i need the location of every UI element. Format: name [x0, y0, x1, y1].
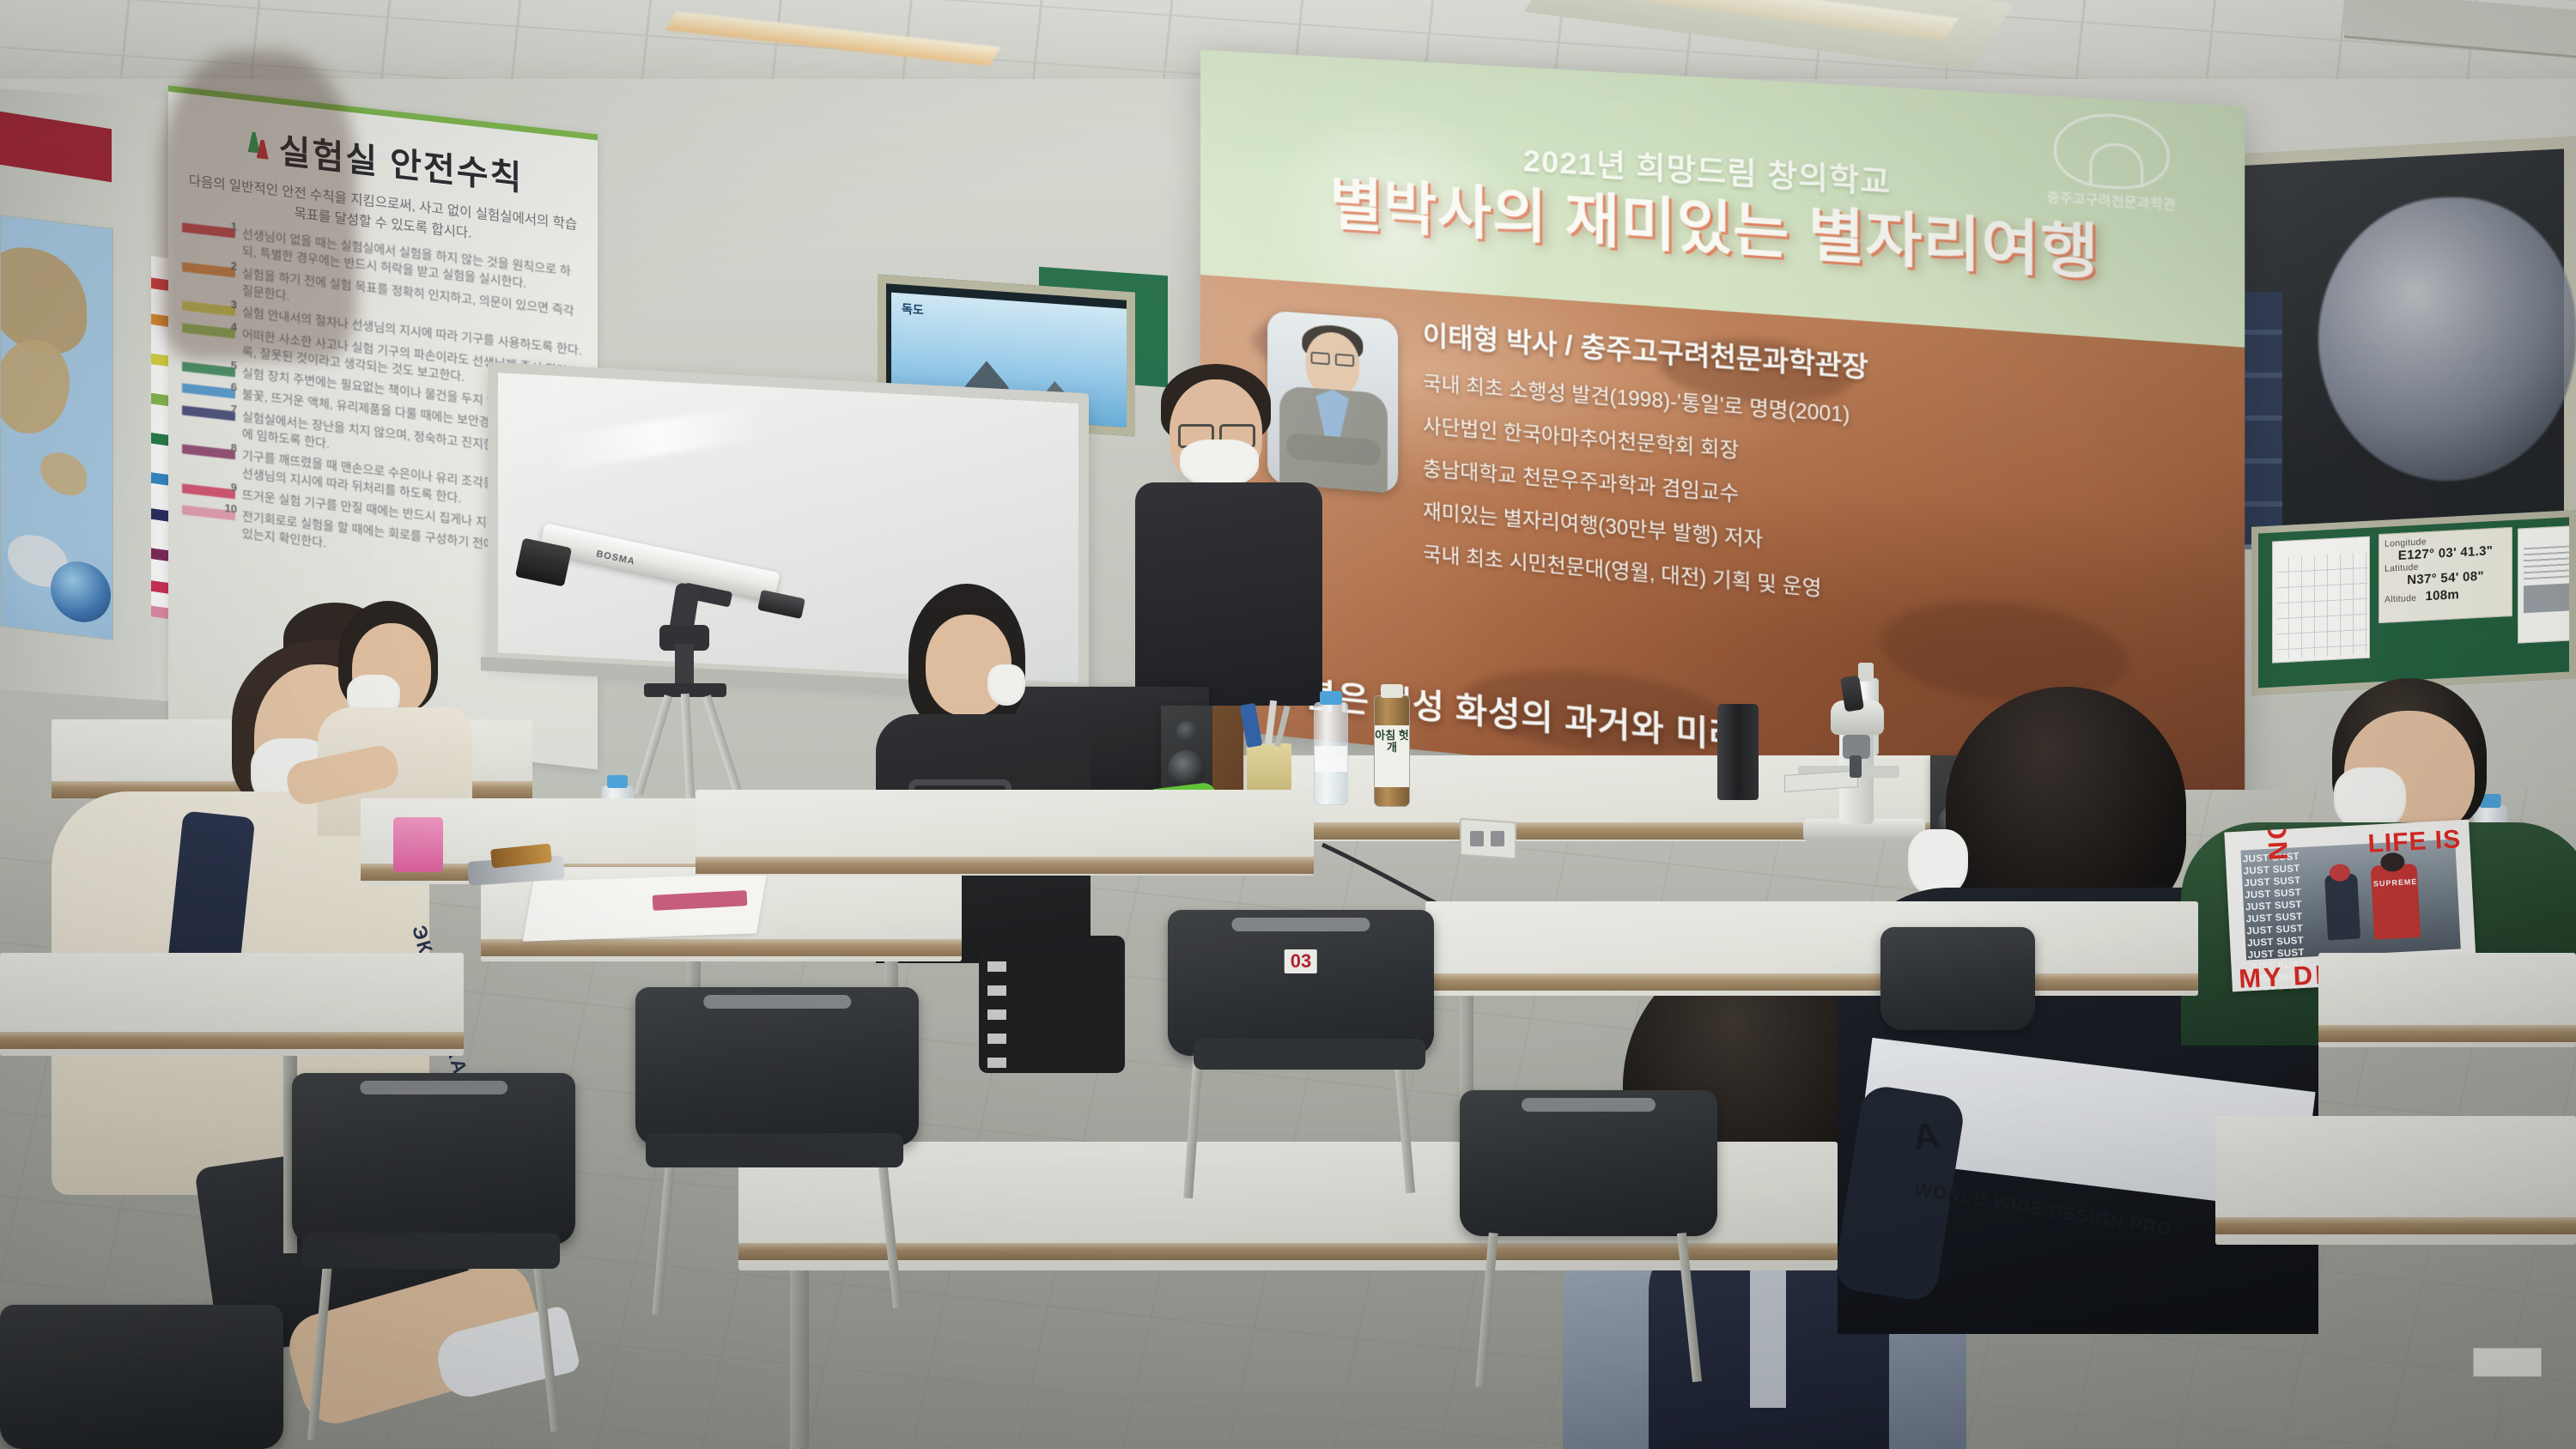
chair-backrest	[1880, 927, 2035, 1030]
safety-rule-color-bar: 8	[182, 445, 235, 460]
tripod-leg	[681, 694, 695, 798]
chair-backrest	[0, 1305, 283, 1449]
student-face-mask	[987, 664, 1025, 706]
tracksuit-stripe	[987, 961, 1006, 1073]
altitude-label: Altitude	[2385, 593, 2416, 605]
notice-document-text	[2524, 545, 2576, 583]
safety-rule-number: 7	[231, 402, 237, 419]
paper-sheet	[523, 873, 767, 941]
chair-handle-slot	[360, 1081, 507, 1094]
drink-bottle-label: 아침 헛개	[1375, 725, 1409, 787]
desk-front-left	[0, 953, 464, 1056]
chair-backrest	[292, 1073, 575, 1245]
chair-seat	[302, 1233, 560, 1269]
jacket-letter-a: A	[1911, 1114, 1942, 1159]
safety-rule-number: 8	[231, 440, 237, 458]
chair-center[interactable]: 03	[1168, 910, 1434, 1056]
chair-seat	[646, 1133, 903, 1167]
dokdo-poster-title: 독도	[902, 300, 924, 318]
chair-number-label: 03	[1285, 949, 1317, 973]
safety-rule-number: 6	[231, 379, 237, 397]
telescope-eyepiece	[757, 590, 805, 619]
spray-nozzle	[1858, 663, 1874, 682]
presenter	[1116, 361, 1357, 704]
desk-edge	[696, 857, 1314, 874]
drink-bottle: 아침 헛개	[1374, 695, 1410, 807]
safety-rule-color-bar: 5	[182, 361, 235, 377]
safety-rule-color-bar: 9	[182, 483, 235, 499]
telescope-tube	[539, 523, 781, 601]
presenter-face-mask	[1180, 440, 1259, 488]
tripod-leg	[635, 694, 673, 796]
safety-rule-color-bar: 7	[182, 405, 235, 421]
tweeter	[1176, 721, 1197, 742]
thermos-tumbler	[1717, 704, 1759, 800]
desk-far-right	[2318, 953, 2576, 1047]
graphic-person-right	[2371, 864, 2421, 940]
desk-right-mid	[1425, 901, 2198, 996]
bottle-cap	[607, 775, 628, 788]
chair-right-back[interactable]	[1880, 927, 2035, 1030]
desk-edge	[2318, 1025, 2576, 1042]
speaker-info-block: 이태형 박사 / 충주고구려천문과학관장 국내 최초 소행성 발견(1998)-…	[1423, 312, 2202, 648]
chair-left-front[interactable]	[292, 1073, 575, 1245]
pen-holder	[1247, 743, 1291, 791]
graphic-person-left	[2324, 874, 2360, 941]
tripod-leg	[702, 694, 741, 791]
wall-calendar	[2272, 537, 2370, 664]
pink-cup	[393, 817, 443, 872]
moon-poster	[2318, 197, 2576, 481]
chair-left-mid[interactable]	[635, 987, 919, 1146]
calendar-grid	[2276, 553, 2367, 659]
notice-document-image	[2524, 583, 2576, 614]
notice-board: Longitude E127° 03' 41.3" Latitude N37° …	[2251, 510, 2576, 695]
chair-handle-slot	[1231, 918, 1370, 931]
chair-backrest	[635, 987, 919, 1146]
desk-edge	[1425, 973, 2198, 991]
classroom-scene: 실험실 안전수칙 다음의 일반적인 안전 수칙을 지킴으로써, 사고 없이 실험…	[0, 0, 2576, 1449]
desk-leg	[790, 1270, 809, 1449]
chair-bottom-left[interactable]	[0, 1305, 283, 1449]
bottle-cap	[1381, 684, 1403, 698]
bottle-cap	[1320, 691, 1342, 705]
student-left-back	[318, 601, 498, 824]
presenter-shadow	[160, 52, 357, 361]
woofer	[1168, 750, 1206, 788]
microscope-objective-lens	[1850, 755, 1862, 778]
map-landmass-australia	[40, 451, 87, 498]
safety-rule-color-bar: 6	[182, 384, 235, 399]
desk-label-sticker	[2473, 1348, 2542, 1377]
bottle-label	[1315, 746, 1347, 772]
chair-handle-slot	[703, 995, 851, 1009]
chair-backrest	[1168, 910, 1434, 1056]
desk-edge	[2215, 1217, 2576, 1234]
world-map-poster	[0, 215, 113, 640]
graphic-line-1: LIFE IS	[2367, 825, 2462, 859]
safety-rule-number: 10	[225, 500, 237, 518]
desk-edge	[481, 939, 962, 956]
desk-edge	[738, 1243, 1838, 1260]
coordinates-plaque: Longitude E127° 03' 41.3" Latitude N37° …	[2379, 527, 2512, 623]
safety-rule-color-bar: 10	[182, 506, 235, 521]
presenter-jacket	[1135, 482, 1322, 706]
altitude-value: 108m	[2425, 587, 2459, 603]
desk-edge	[0, 1032, 464, 1049]
chair-backrest	[1460, 1090, 1717, 1236]
safety-rule-number: 9	[231, 480, 237, 497]
globe-inset	[51, 558, 111, 626]
desk-mid-center	[696, 790, 1314, 876]
notice-document	[2518, 524, 2576, 643]
chair-right-mid[interactable]	[1460, 1090, 1717, 1236]
desk-foreground-right	[2215, 1116, 2576, 1245]
chair-seat	[1194, 1039, 1425, 1070]
chair-handle-slot	[1522, 1098, 1656, 1112]
water-bottle	[1314, 702, 1348, 805]
speaker-credentials: 국내 최초 소행성 발견(1998)-'통일'로 명명(2001)사단법인 한국…	[1423, 366, 2202, 634]
